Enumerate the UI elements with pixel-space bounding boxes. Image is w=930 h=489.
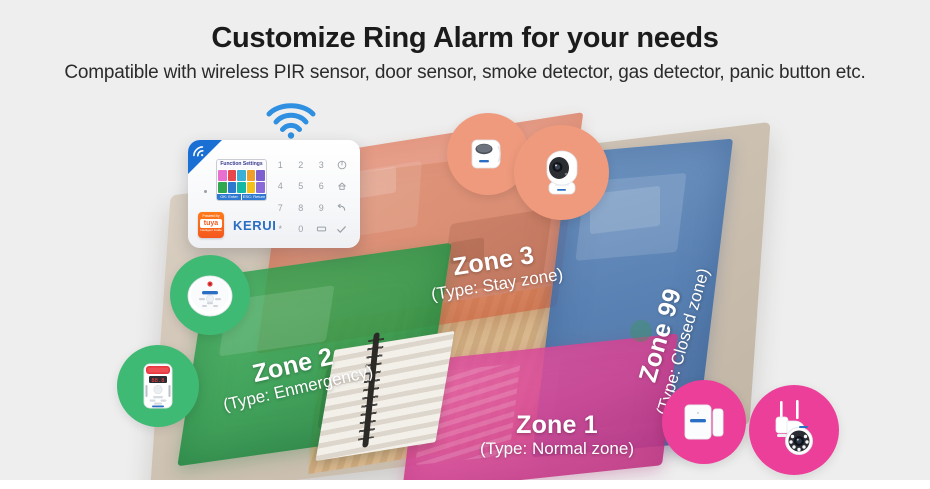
lcd-tile: [237, 182, 246, 193]
product-circle-outdoor-camera: [749, 385, 839, 475]
lcd-tile: [247, 170, 256, 181]
lcd-tile: [218, 182, 227, 193]
confirm-check-icon[interactable]: [332, 219, 353, 241]
product-circle-gas-detector: 88.8: [117, 345, 199, 427]
lcd-footer-right: ESC: Return: [242, 194, 266, 200]
lcd-tile: [228, 170, 237, 181]
outdoor-ptz-camera-icon: [763, 399, 825, 461]
door-contact-sensor-icon: [676, 394, 732, 450]
promo-banner: Customize Ring Alarm for your needs Comp…: [0, 0, 930, 489]
key-0[interactable]: 0: [291, 219, 312, 241]
page-subtitle: Compatible with wireless PIR sensor, doo…: [0, 62, 930, 84]
key-5[interactable]: 5: [291, 176, 312, 198]
key-4[interactable]: 4: [270, 176, 291, 198]
alarm-control-panel[interactable]: Function Settings OK: Enter ESC: Return: [188, 140, 360, 248]
tuya-badge-bottom: Intelligent Inside: [198, 229, 224, 233]
smoke-detector-icon: [182, 267, 238, 323]
product-circle-smoke-detector: [170, 255, 250, 335]
panel-lcd-screen: Function Settings OK: Enter ESC: Return: [216, 159, 267, 201]
key-8[interactable]: 8: [291, 197, 312, 219]
lcd-footer-left: OK: Enter: [217, 194, 241, 200]
page-title: Customize Ring Alarm for your needs: [0, 22, 930, 55]
menu-icon[interactable]: [311, 219, 332, 241]
key-7[interactable]: 7: [270, 197, 291, 219]
lcd-title: Function Settings: [217, 160, 266, 169]
lcd-tile: [256, 170, 265, 181]
lcd-tile: [256, 182, 265, 193]
product-circle-indoor-camera: [514, 125, 609, 220]
pir-motion-sensor-icon: [464, 130, 512, 178]
back-icon[interactable]: [332, 197, 353, 219]
away-arm-icon[interactable]: [332, 154, 353, 176]
tuya-badge-top: Powered by: [198, 212, 224, 218]
svg-text:88.8: 88.8: [151, 378, 164, 384]
gas-detector-icon: 88.8: [133, 359, 183, 413]
indoor-camera-icon: [533, 144, 591, 202]
lcd-tile: [218, 170, 227, 181]
lcd-icon-grid: [217, 169, 266, 194]
lcd-tile: [247, 182, 256, 193]
tuya-badge-brand: tuya: [200, 219, 222, 228]
lcd-tile: [237, 170, 246, 181]
lcd-tile: [228, 182, 237, 193]
key-2[interactable]: 2: [291, 154, 312, 176]
status-led: [204, 190, 207, 193]
key-1[interactable]: 1: [270, 154, 291, 176]
key-3[interactable]: 3: [311, 154, 332, 176]
home-arm-icon[interactable]: [332, 176, 353, 198]
wifi-icon: [265, 100, 317, 140]
tuya-badge: Powered by tuya Intelligent Inside: [198, 212, 224, 238]
panel-keypad[interactable]: 1 2 3 4 5 6 7 8 9: [270, 154, 352, 240]
key-6[interactable]: 6: [311, 176, 332, 198]
product-circle-door-sensor: [662, 380, 746, 464]
bottom-strip: [0, 480, 930, 489]
key-star[interactable]: *: [270, 219, 291, 241]
key-9[interactable]: 9: [311, 197, 332, 219]
lcd-footer: OK: Enter ESC: Return: [217, 194, 266, 200]
